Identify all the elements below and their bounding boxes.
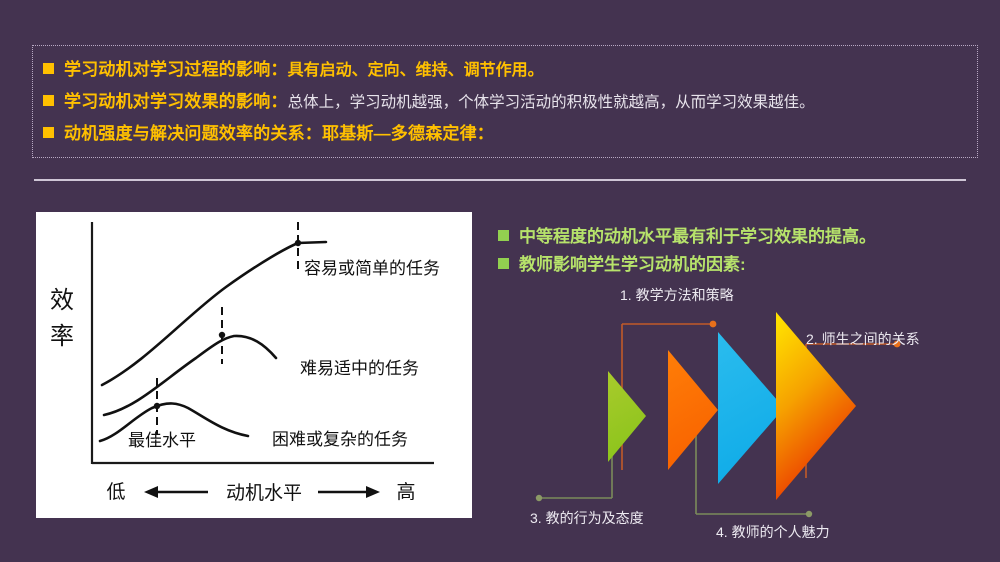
chart-optimum-annotation: 最佳水平 <box>128 431 196 450</box>
bullet-1-heading: 学习动机对学习过程的影响： <box>64 55 288 80</box>
chart-series-label-easy: 容易或简单的任务 <box>304 259 440 278</box>
yellow-square-bullet-icon <box>43 63 54 74</box>
right-bullet-list: 中等程度的动机水平最有利于学习效果的提高。 教师影响学生学习动机的因素: <box>498 222 993 278</box>
bullet-item-1: 学习动机对学习过程的影响： 具有启动、定向、维持、调节作用。 <box>43 55 977 80</box>
chart-series-label-moderate: 难易适中的任务 <box>300 359 419 378</box>
connector-dot-3 <box>536 495 542 501</box>
yerkes-dodson-chart-figure: 效 率 容易或简单的任务 难易适中的任务 困难或复杂的任务 最佳水平 低 动机水… <box>36 212 472 518</box>
slide-canvas: 学习动机对学习过程的影响： 具有启动、定向、维持、调节作用。 学习动机对学习效果… <box>0 0 1000 562</box>
connector-dot-1 <box>710 321 717 328</box>
diagram-label-4: 4. 教师的个人魅力 <box>716 522 830 542</box>
bullet-2-body: 总体上，学习动机越强，个体学习活动的积极性就越高，从而学习效果越佳。 <box>288 90 815 112</box>
arrow-1-triangle <box>608 371 646 462</box>
right-bullet-item-2: 教师影响学生学习动机的因素: <box>498 250 993 275</box>
diagram-label-1: 1. 教学方法和策略 <box>620 285 734 305</box>
chart-peak-dot-easy <box>295 240 301 246</box>
bullet-item-3: 动机强度与解决问题效率的关系：耶基斯—多德森定律： <box>43 119 977 144</box>
diagram-label-3: 3. 教的行为及态度 <box>530 508 644 528</box>
chart-xaxis-low-label: 低 <box>106 481 125 503</box>
bullet-3-heading: 动机强度与解决问题效率的关系：耶基斯—多德森定律： <box>64 119 494 144</box>
bullet-2-heading: 学习动机对学习效果的影响： <box>64 87 288 112</box>
chart-xlabel: 动机水平 <box>226 482 302 504</box>
top-text-box: 学习动机对学习过程的影响： 具有启动、定向、维持、调节作用。 学习动机对学习效果… <box>32 45 978 158</box>
arrow-2-triangle <box>668 350 718 470</box>
horizontal-divider <box>34 179 966 181</box>
right-bullet-1-text: 中等程度的动机水平最有利于学习效果的提高。 <box>519 222 876 247</box>
bullet-item-2: 学习动机对学习效果的影响： 总体上，学习动机越强，个体学习活动的积极性就越高，从… <box>43 87 977 112</box>
chart-xaxis-high-label: 高 <box>396 481 415 503</box>
arrow-3-triangle <box>718 332 784 484</box>
bullet-1-body: 具有启动、定向、维持、调节作用。 <box>288 56 544 80</box>
chart-peak-dot-moderate <box>219 332 225 338</box>
yellow-square-bullet-icon <box>43 95 54 106</box>
right-bullet-item-1: 中等程度的动机水平最有利于学习效果的提高。 <box>498 222 993 247</box>
green-square-bullet-icon <box>498 230 509 241</box>
yellow-square-bullet-icon <box>43 127 54 138</box>
connector-dot-4 <box>806 511 812 517</box>
chart-ylabel-char1: 效 <box>50 287 74 314</box>
diagram-label-2: 2. 师生之间的关系 <box>806 329 920 349</box>
chart-series-label-difficult: 困难或复杂的任务 <box>272 430 408 449</box>
chart-ylabel-char2: 率 <box>50 323 74 350</box>
right-bullet-2-text: 教师影响学生学习动机的因素: <box>519 250 746 275</box>
chart-peak-dot-difficult <box>154 403 160 409</box>
yerkes-dodson-chart-svg: 效 率 容易或简单的任务 难易适中的任务 困难或复杂的任务 最佳水平 低 动机水… <box>36 212 472 518</box>
green-square-bullet-icon <box>498 258 509 269</box>
